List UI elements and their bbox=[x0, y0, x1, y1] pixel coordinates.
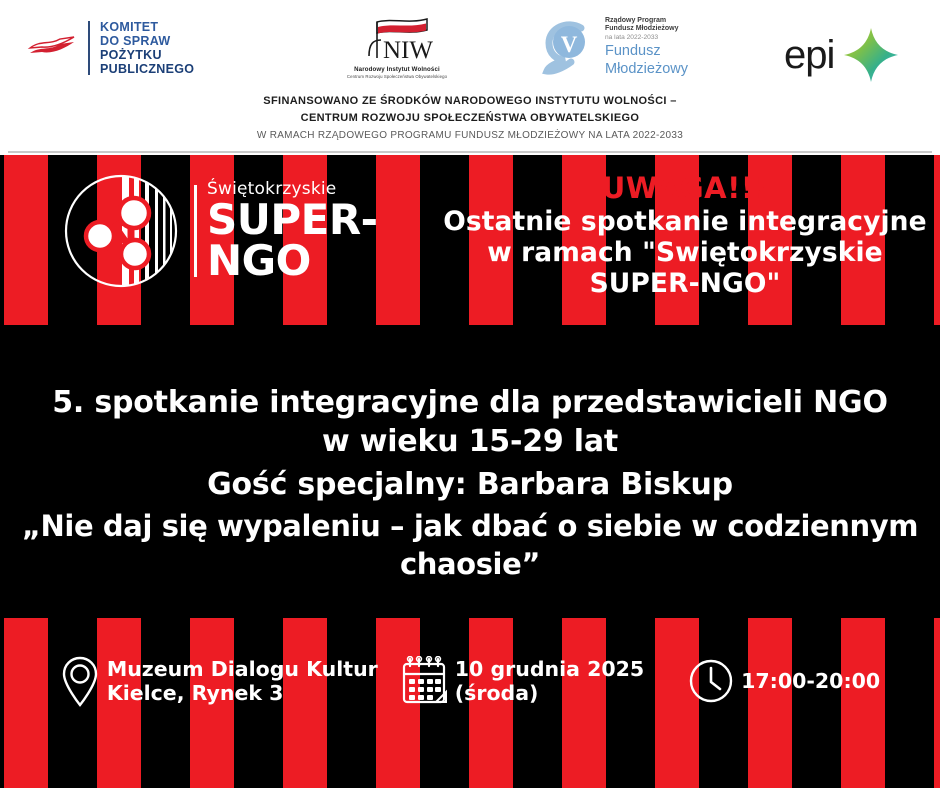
epi-wordmark: epi bbox=[784, 35, 834, 75]
brand-divider bbox=[194, 185, 197, 277]
komitet-line-4: PUBLICZNEGO bbox=[100, 62, 194, 76]
funding-line-2: CENTRUM ROZWOJU SPOŁECZEŃSTWA OBYWATELSK… bbox=[0, 110, 940, 127]
main-text-block: 5. spotkanie integracyjne dla przedstawi… bbox=[0, 383, 940, 583]
main-line-2: w wieku 15-29 lat bbox=[0, 422, 940, 461]
main-line-4: „Nie daj się wypaleniu – jak dbać o sieb… bbox=[0, 508, 940, 583]
super-ngo-wordmark: Świętokrzyskie SUPER- NGO bbox=[207, 181, 378, 281]
niw-logo: NIW Narodowy Instytut Wolności Centrum R… bbox=[322, 16, 472, 79]
date-line-1: 10 grudnia 2025 bbox=[455, 657, 644, 681]
komitet-wordmark: KOMITET DO SPRAW POŻYTKU PUBLICZNEGO bbox=[100, 20, 194, 76]
fundusz-big-2: Młodzieżowy bbox=[605, 62, 688, 78]
komitet-line-3: POŻYTKU bbox=[100, 48, 194, 62]
fundusz-small-1: Rządowy Program bbox=[605, 17, 688, 26]
fundusz-big-1: Fundusz bbox=[605, 44, 688, 60]
epi-logo: epi bbox=[784, 26, 900, 84]
announcement-line-2: w ramach "Swiętokrzyskie bbox=[440, 237, 930, 268]
funding-line-3: W RAMACH RZĄDOWEGO PROGRAMU FUNDUSZ MŁOD… bbox=[0, 127, 940, 144]
swietokrzyskie-super-ngo-circle-icon bbox=[62, 172, 180, 290]
announcement-line-3: SUPER-NGO" bbox=[440, 268, 930, 299]
poster: KOMITET DO SPRAW POŻYTKU PUBLICZNEGO NIW… bbox=[0, 0, 940, 788]
location-line-1: Muzeum Dialogu Kultur bbox=[107, 657, 378, 681]
date-line-2: (środa) bbox=[455, 681, 644, 705]
four-point-star-icon bbox=[842, 26, 900, 84]
announcement-block: UWAGA!!! Ostatnie spotkanie integracyjne… bbox=[440, 172, 930, 299]
sponsor-logo-row: KOMITET DO SPRAW POŻYTKU PUBLICZNEGO NIW… bbox=[0, 14, 940, 92]
svg-text:NIW: NIW bbox=[383, 37, 433, 64]
fundusz-small-3: na lata 2022-2033 bbox=[605, 34, 688, 42]
niw-flag-icon: NIW bbox=[351, 16, 443, 64]
event-date: 10 grudnia 2025 (środa) bbox=[400, 656, 644, 706]
funding-statement: SFINANSOWANO ZE ŚRODKÓW NARODOWEGO INSTY… bbox=[0, 93, 940, 144]
fundusz-mlodziezowy-logo: V Rządowy Program Fundusz Młodzieżowy na… bbox=[537, 16, 688, 78]
polish-flag-icon bbox=[26, 31, 78, 65]
komitet-line-2: DO SPRAW bbox=[100, 34, 194, 48]
event-location: Muzeum Dialogu Kultur Kielce, Rynek 3 bbox=[60, 655, 378, 707]
niw-subtitle-2: Centrum Rozwoju Społeczeństwa Obywatelsk… bbox=[322, 74, 472, 79]
super-ngo-brand: Świętokrzyskie SUPER- NGO bbox=[62, 172, 378, 290]
main-line-3: Gość specjalny: Barbara Biskup bbox=[0, 465, 940, 504]
komitet-line-1: KOMITET bbox=[100, 20, 194, 34]
funding-header: KOMITET DO SPRAW POŻYTKU PUBLICZNEGO NIW… bbox=[0, 0, 940, 155]
event-time: 17:00-20:00 bbox=[688, 658, 880, 704]
header-divider bbox=[8, 151, 932, 153]
time-text: 17:00-20:00 bbox=[741, 669, 880, 693]
fundusz-wordmark: Rządowy Program Fundusz Młodzieżowy na l… bbox=[605, 17, 688, 77]
svg-text:V: V bbox=[561, 32, 578, 57]
calendar-icon bbox=[400, 656, 448, 706]
niw-subtitle-1: Narodowy Instytut Wolności bbox=[322, 66, 472, 73]
brand-big-word-1: SUPER- bbox=[207, 200, 378, 240]
location-line-2: Kielce, Rynek 3 bbox=[107, 681, 378, 705]
date-text: 10 grudnia 2025 (środa) bbox=[455, 657, 644, 705]
komitet-divider bbox=[88, 21, 90, 75]
funding-line-1: SFINANSOWANO ZE ŚRODKÓW NARODOWEGO INSTY… bbox=[0, 93, 940, 110]
komitet-do-spraw-pozytku-publicznego-logo: KOMITET DO SPRAW POŻYTKU PUBLICZNEGO bbox=[26, 20, 194, 76]
map-pin-icon bbox=[60, 655, 100, 707]
fundusz-v-icon: V bbox=[537, 16, 599, 78]
brand-big-word-2: NGO bbox=[207, 241, 378, 281]
fundusz-small-2: Fundusz Młodzieżowy bbox=[605, 25, 688, 34]
announcement-line-1: Ostatnie spotkanie integracyjne bbox=[440, 206, 930, 237]
main-line-1: 5. spotkanie integracyjne dla przedstawi… bbox=[0, 383, 940, 422]
event-info-row: Muzeum Dialogu Kultur Kielce, Rynek 3 bbox=[0, 655, 940, 707]
announcement-title: UWAGA!!! bbox=[440, 172, 930, 206]
location-text: Muzeum Dialogu Kultur Kielce, Rynek 3 bbox=[107, 657, 378, 705]
clock-icon bbox=[688, 658, 734, 704]
